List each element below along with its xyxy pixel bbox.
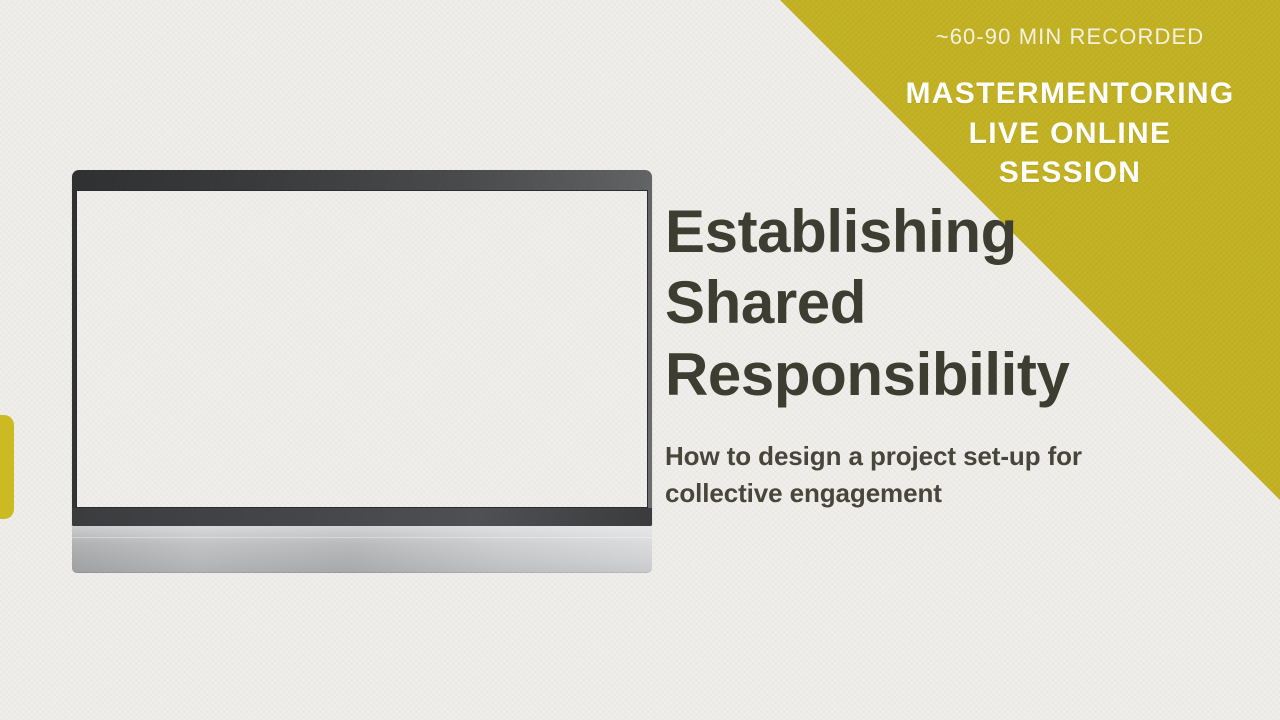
monitor-base-slab xyxy=(72,526,652,573)
session-heading: MASTERMENTORING LIVE ONLINE SESSION xyxy=(860,74,1280,193)
monitor-bezel xyxy=(72,170,652,527)
session-heading-line-2: LIVE ONLINE xyxy=(860,114,1280,154)
left-edge-yellow-tab xyxy=(0,415,14,519)
session-heading-line-1: MASTERMENTORING xyxy=(860,74,1280,114)
session-heading-line-3: SESSION xyxy=(860,153,1280,193)
page-title-line-1: Establishing xyxy=(665,196,1185,267)
page-title-line-2: Shared xyxy=(665,267,1185,338)
corner-badge: ~60-90 MIN RECORDED MASTERMENTORING LIVE… xyxy=(860,0,1280,193)
monitor-chin-strip xyxy=(72,508,652,527)
page-subtitle: How to design a project set-up for colle… xyxy=(665,438,1175,512)
page-title: Establishing Shared Responsibility xyxy=(665,196,1185,410)
duration-kicker: ~60-90 MIN RECORDED xyxy=(860,26,1280,48)
monitor-illustration xyxy=(72,170,652,573)
slide-canvas: ~60-90 MIN RECORDED MASTERMENTORING LIVE… xyxy=(0,0,1280,720)
main-text-block: Establishing Shared Responsibility How t… xyxy=(665,196,1185,512)
page-title-line-3: Responsibility xyxy=(665,339,1185,410)
monitor-screen xyxy=(76,190,648,508)
